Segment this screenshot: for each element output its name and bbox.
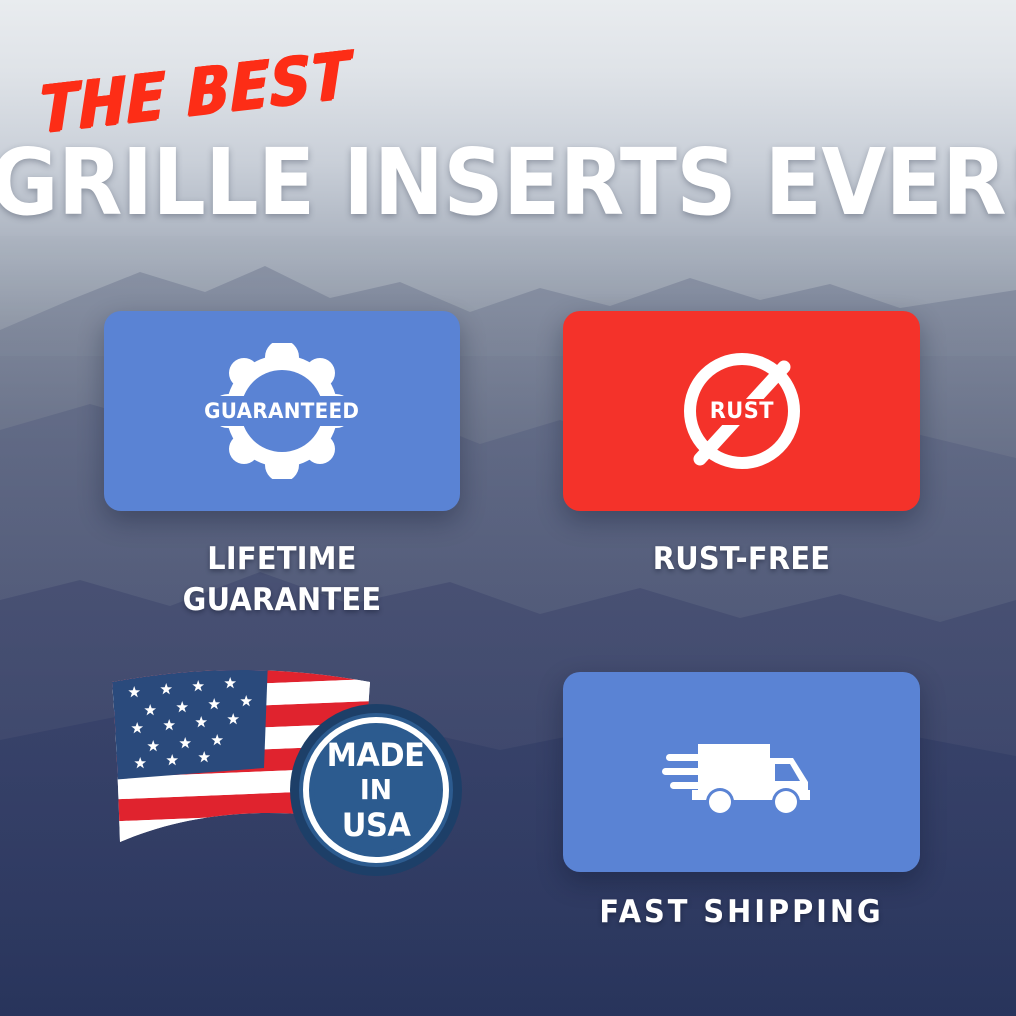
feature-grid: GUARANTEED LIFETIME GUARANTEE <box>0 0 1016 1016</box>
badge-line-in: IN <box>360 776 392 804</box>
rust-icon-label: RUST <box>709 399 773 424</box>
feature-label-fast-shipping: FAST SHIPPING <box>575 892 907 933</box>
rust-free-card[interactable]: RUST <box>563 311 920 511</box>
feature-fast-shipping[interactable]: FAST SHIPPING <box>563 672 920 872</box>
guarantee-icon-label: GUARANTEED <box>204 399 359 423</box>
badge-line-usa: USA <box>342 809 411 841</box>
promo-graphic: THE BEST GRILLE INSERTS EVER! <box>0 0 1016 1016</box>
feature-rust-free[interactable]: RUST RUST-FREE <box>563 311 920 511</box>
delivery-truck-icon <box>662 724 822 820</box>
feature-label-rust-free: RUST-FREE <box>575 539 907 580</box>
fast-shipping-card[interactable] <box>563 672 920 872</box>
feature-made-in-usa[interactable]: MADE IN USA <box>90 662 480 877</box>
guarantee-card[interactable]: GUARANTEED <box>104 311 460 511</box>
made-in-usa-badge[interactable]: MADE IN USA <box>290 704 462 876</box>
feature-lifetime-guarantee[interactable]: GUARANTEED LIFETIME GUARANTEE <box>104 311 460 511</box>
badge-line-made: MADE <box>327 739 425 771</box>
feature-label-lifetime-guarantee: LIFETIME GUARANTEE <box>116 539 447 621</box>
